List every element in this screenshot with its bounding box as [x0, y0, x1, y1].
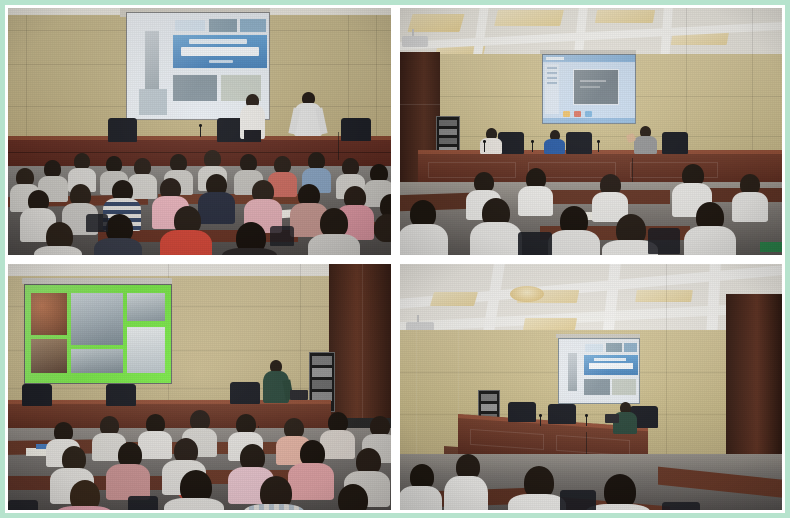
projection-screen [24, 284, 172, 384]
audience-chair [8, 500, 38, 511]
stage-chair-1 [22, 384, 52, 406]
scene-bottom-left [8, 264, 391, 511]
ceiling-light-3 [594, 10, 654, 23]
table-microphone [200, 126, 201, 137]
presenter-laptop [605, 414, 619, 423]
wood-wall-column [329, 264, 391, 418]
panel-bottom-left[interactable] [8, 264, 391, 511]
audience-chair [128, 496, 158, 511]
wood-wall-right [726, 294, 782, 458]
audience-chair [648, 228, 680, 254]
panel-top-right[interactable] [400, 8, 783, 255]
projection-screen [558, 338, 640, 404]
stage-chair-1 [508, 402, 536, 422]
panel-top-left[interactable] [8, 8, 391, 255]
audience-chair [270, 226, 294, 246]
ceiling-light-1 [429, 292, 477, 306]
collage-inner-frame [0, 0, 790, 518]
ceiling-light-1 [407, 14, 464, 32]
scene-top-right [400, 8, 783, 255]
book-green [760, 242, 782, 252]
stage-chair-1 [108, 118, 137, 142]
scene-top-left [8, 8, 391, 255]
audience-chair [518, 232, 552, 255]
stage-chair-2 [106, 384, 136, 406]
presenter-laptop [290, 390, 308, 400]
photo-collage [0, 0, 790, 518]
panel-bottom-right[interactable] [400, 264, 783, 511]
ceiling-light-3 [635, 290, 693, 302]
audience-chair [560, 490, 596, 511]
audience-chair [86, 214, 108, 232]
stage-chair-2 [566, 132, 592, 154]
head-table [8, 136, 391, 170]
stage-chair-2 [548, 404, 576, 424]
projection-screen [542, 54, 636, 124]
scene-bottom-right [400, 264, 783, 511]
ceiling-light-2 [494, 10, 564, 26]
audience-chair [662, 502, 700, 511]
ceiling-light-4 [522, 318, 576, 330]
stage-chair-3 [662, 132, 688, 154]
collage-grid [5, 5, 785, 513]
stage-chair-3 [230, 382, 260, 404]
chandelier [510, 286, 544, 302]
ceiling-projector [402, 36, 428, 47]
